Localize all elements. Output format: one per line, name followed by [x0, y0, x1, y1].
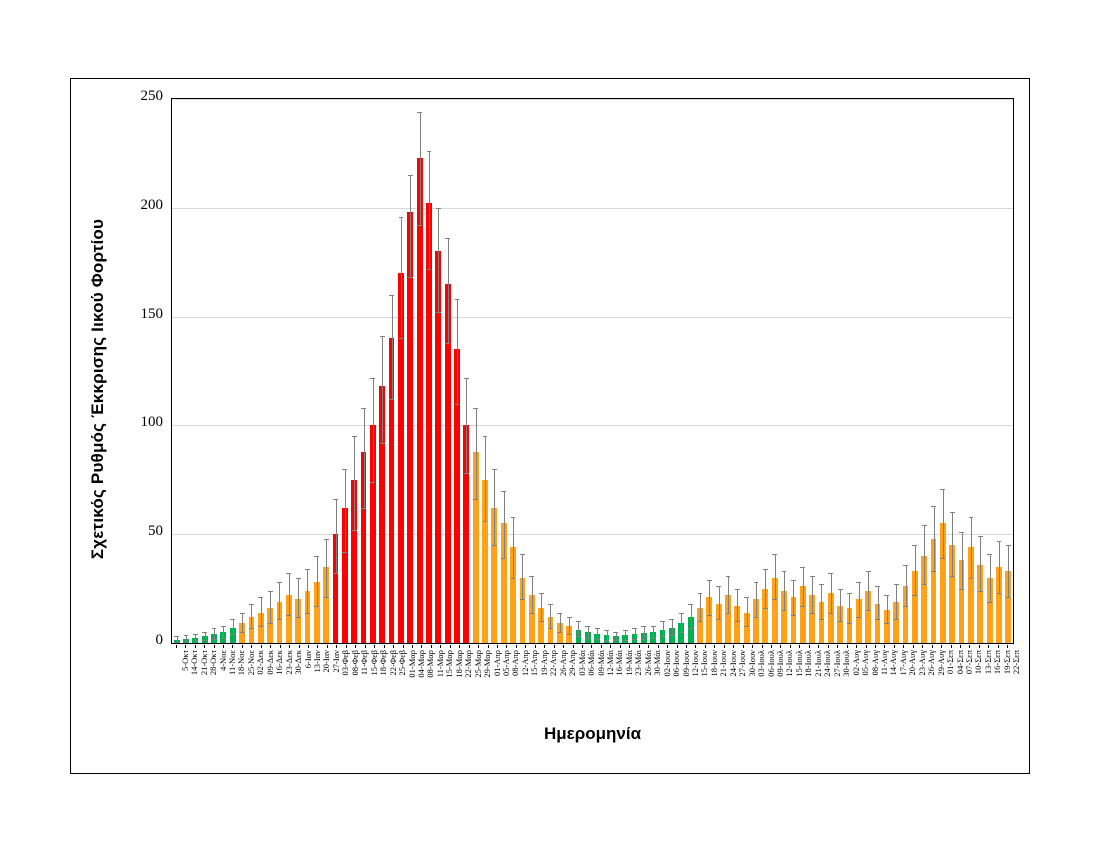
x-tick-mark [421, 645, 422, 648]
x-tick-mark [610, 645, 611, 648]
error-bar-cap [483, 521, 488, 522]
error-bar-cap [221, 638, 226, 639]
x-tick-mark [847, 645, 848, 648]
error-bar [429, 151, 430, 269]
error-bar-cap [268, 591, 273, 592]
x-tick-mark [289, 645, 290, 648]
x-tick-mark [601, 645, 602, 648]
error-bar-cap [782, 610, 787, 611]
error-bar-cap [193, 634, 198, 635]
error-bar-cap [828, 573, 833, 574]
error-bar-cap [847, 623, 852, 624]
error-bar-cap [623, 630, 628, 631]
x-axis-title: Ημερομηνία [171, 724, 1014, 744]
error-bar-cap [174, 642, 179, 643]
x-tick-mark [875, 645, 876, 648]
x-tick-label: 12-Ιουλ [784, 650, 794, 677]
error-bar-cap [342, 469, 347, 470]
error-bar-cap [772, 554, 777, 555]
error-bar [392, 295, 393, 399]
error-bar-cap [511, 517, 516, 518]
error-bar [522, 554, 523, 600]
error-bar-cap [529, 613, 534, 614]
error-bar-cap [613, 632, 618, 633]
x-tick-mark [941, 645, 942, 648]
error-bar [205, 632, 206, 640]
error-bar-cap [716, 586, 721, 587]
x-tick-mark [762, 645, 763, 648]
x-tick-mark [242, 645, 243, 648]
x-tick-mark [894, 645, 895, 648]
x-tick-mark [308, 645, 309, 648]
error-bar [728, 576, 729, 613]
x-tick-mark [393, 645, 394, 648]
x-tick-label: 27-Ιουν [737, 650, 747, 676]
x-tick-label: 29-Μαρ [482, 650, 492, 678]
x-tick-mark [988, 645, 989, 648]
error-bar-cap [856, 617, 861, 618]
error-bar [298, 578, 299, 617]
x-tick-mark [658, 645, 659, 648]
error-bar-cap [268, 623, 273, 624]
x-tick-label: 16-Σεπ [992, 650, 1002, 674]
error-bar-cap [875, 586, 880, 587]
error-bar-cap [940, 558, 945, 559]
error-bar-cap [922, 584, 927, 585]
x-tick-mark [866, 645, 867, 648]
y-tick-label: 0 [119, 632, 163, 649]
x-tick-label: 08-Μαρ [425, 650, 435, 678]
error-bar-cap [436, 312, 441, 313]
error-bar-cap [791, 580, 796, 581]
x-tick-mark [620, 645, 621, 648]
x-tick-label: 08-Απρ [510, 650, 520, 676]
x-tick-label: 14-Οκτ [189, 650, 199, 675]
x-tick-label: 22-Απρ [548, 650, 558, 676]
error-bar-cap [698, 621, 703, 622]
error-bar-cap [501, 491, 506, 492]
error-bar-cap [800, 567, 805, 568]
x-tick-mark [497, 645, 498, 648]
error-bar-cap [464, 473, 469, 474]
error-bar [354, 436, 355, 530]
error-bar-cap [1006, 597, 1011, 598]
error-bar-cap [193, 641, 198, 642]
error-bar-cap [679, 613, 684, 614]
error-bar [242, 613, 243, 633]
error-bar [607, 630, 608, 640]
error-bar-cap [370, 378, 375, 379]
error-bar-cap [763, 608, 768, 609]
error-bar-cap [959, 589, 964, 590]
error-bar [532, 576, 533, 613]
error-bar-cap [464, 378, 469, 379]
x-tick-mark [488, 645, 489, 648]
y-tick-label: 100 [119, 414, 163, 431]
error-bar [466, 378, 467, 474]
error-bar-cap [604, 630, 609, 631]
error-bar [420, 112, 421, 225]
error-bar-cap [726, 613, 731, 614]
error-bar-cap [445, 343, 450, 344]
error-bar-cap [408, 277, 413, 278]
error-bar-cap [1006, 545, 1011, 546]
error-bar [223, 626, 224, 638]
error-bar-cap [735, 589, 740, 590]
error-bar [868, 571, 869, 610]
x-tick-mark [185, 645, 186, 648]
error-bar-cap [866, 610, 871, 611]
error-bar [214, 628, 215, 639]
error-bar-cap [417, 225, 422, 226]
error-bar [457, 299, 458, 403]
error-bar [784, 571, 785, 610]
x-tick-mark [355, 645, 356, 648]
error-bar [887, 595, 888, 623]
y-tick-label: 200 [119, 197, 163, 214]
error-bar [812, 576, 813, 613]
x-tick-mark [232, 645, 233, 648]
error-bar-cap [333, 499, 338, 500]
error-bar [831, 573, 832, 612]
x-tick-mark [223, 645, 224, 648]
error-bar-cap [258, 597, 263, 598]
error-bar-cap [735, 621, 740, 622]
x-tick-mark [771, 645, 772, 648]
error-bar-cap [576, 636, 581, 637]
error-bar [681, 613, 682, 633]
error-bar-cap [249, 628, 254, 629]
error-bar-cap [539, 621, 544, 622]
x-tick-label: 11-Φεβ [359, 650, 369, 675]
error-bar-cap [333, 573, 338, 574]
x-tick-mark [251, 645, 252, 648]
error-bar-cap [585, 626, 590, 627]
error-bar-cap [828, 613, 833, 614]
error-bar [896, 584, 897, 619]
error-bar [504, 491, 505, 558]
x-tick-label: 05-Αυγ [860, 650, 870, 675]
error-bar [410, 175, 411, 277]
x-tick-mark [639, 645, 640, 648]
error-bar-cap [230, 619, 235, 620]
error-bar-cap [567, 617, 572, 618]
x-tick-label: 22-Μαρ [463, 650, 473, 678]
error-bar [878, 586, 879, 619]
x-tick-mark [724, 645, 725, 648]
error-bar-cap [707, 580, 712, 581]
error-bar [691, 604, 692, 628]
error-bar [719, 586, 720, 619]
error-bar-cap [959, 532, 964, 533]
x-tick-mark [327, 645, 328, 648]
error-bar-cap [754, 617, 759, 618]
x-tick-mark [261, 645, 262, 648]
error-bar-cap [296, 617, 301, 618]
error-bar-cap [305, 613, 310, 614]
x-tick-mark [648, 645, 649, 648]
x-tick-label: 01-Μαρ [407, 650, 417, 678]
error-bar [924, 525, 925, 584]
error-bar [494, 469, 495, 545]
error-bar-cap [978, 591, 983, 592]
error-bar-cap [866, 571, 871, 572]
error-bar-cap [688, 628, 693, 629]
error-bar-cap [230, 634, 235, 635]
x-tick-mark [998, 645, 999, 648]
x-tick-mark [516, 645, 517, 648]
x-tick-mark [469, 645, 470, 648]
error-bar-cap [660, 636, 665, 637]
error-bar-cap [810, 613, 815, 614]
x-tick-mark [714, 645, 715, 648]
error-bar [849, 593, 850, 623]
x-tick-label: 01-Σεπ [945, 650, 955, 674]
x-tick-mark [403, 645, 404, 648]
error-bar-cap [969, 517, 974, 518]
error-bar-cap [576, 621, 581, 622]
error-bar [317, 556, 318, 606]
error-bar [635, 628, 636, 639]
error-bar-cap [520, 599, 525, 600]
error-bar [373, 378, 374, 482]
error-bar-cap [427, 151, 432, 152]
error-bar-cap [249, 604, 254, 605]
error-bar-cap [548, 604, 553, 605]
x-tick-mark [922, 645, 923, 648]
error-bar [747, 597, 748, 625]
error-bar-cap [473, 499, 478, 500]
x-tick-mark [979, 645, 980, 648]
x-tick-mark [270, 645, 271, 648]
error-bar [336, 499, 337, 573]
error-bar-cap [894, 584, 899, 585]
x-tick-mark [591, 645, 592, 648]
x-tick-mark [913, 645, 914, 648]
x-tick-mark [969, 645, 970, 648]
error-bar-cap [305, 569, 310, 570]
error-bar-cap [286, 615, 291, 616]
y-tick-label: 250 [119, 88, 163, 105]
error-bar-cap [212, 628, 217, 629]
error-bar-cap [380, 336, 385, 337]
error-bar-cap [940, 489, 945, 490]
y-axis-title-text: Σχετικός Ρυθμός Έκκρισης Ιικού Φορτίου [88, 219, 108, 559]
error-bar [438, 208, 439, 312]
error-bar-cap [529, 576, 534, 577]
x-tick-mark [431, 645, 432, 648]
error-bar [672, 619, 673, 635]
x-tick-mark [374, 645, 375, 648]
error-bar-cap [277, 582, 282, 583]
error-bar-cap [455, 404, 460, 405]
x-tick-label: 28-Οκτ [208, 650, 218, 675]
gridline [172, 99, 1013, 100]
x-tick-label: 25-Φεβ [397, 650, 407, 675]
x-tick-label: 10-Σεπ [973, 650, 983, 674]
x-tick-mark [544, 645, 545, 648]
error-bar [793, 580, 794, 615]
error-bar [756, 582, 757, 617]
error-bar-cap [352, 436, 357, 437]
x-tick-label: 14-Αυγ [888, 650, 898, 675]
error-bar [279, 582, 280, 619]
error-bar-cap [445, 238, 450, 239]
x-tick-mark [932, 645, 933, 648]
error-bar-cap [604, 640, 609, 641]
error-bar-cap [903, 565, 908, 566]
error-bar [345, 469, 346, 552]
error-bar-cap [651, 638, 656, 639]
error-bar-cap [726, 576, 731, 577]
error-bar [560, 613, 561, 633]
x-tick-mark [780, 645, 781, 648]
error-bar-cap [520, 554, 525, 555]
error-bar [251, 604, 252, 628]
error-bar-cap [884, 623, 889, 624]
error-bar-cap [296, 578, 301, 579]
x-tick-label: 15-Μαρ [444, 650, 454, 678]
x-tick-label: 30-Μάι [652, 650, 662, 676]
error-bar-cap [417, 112, 422, 113]
error-bar-cap [184, 641, 189, 642]
x-tick-label: 24-Ιουλ [822, 650, 832, 677]
x-tick-mark [440, 645, 441, 648]
x-tick-mark [837, 645, 838, 648]
error-bar-cap [698, 593, 703, 594]
error-bar [644, 626, 645, 639]
error-bar-cap [427, 269, 432, 270]
x-tick-mark [554, 645, 555, 648]
error-bar [906, 565, 907, 606]
x-tick-label: 20-Ιαν [321, 650, 331, 672]
x-tick-mark [752, 645, 753, 648]
error-bar-cap [184, 635, 189, 636]
error-bar-cap [258, 626, 263, 627]
error-bar [775, 554, 776, 600]
error-bar-cap [838, 621, 843, 622]
error-bar-cap [370, 482, 375, 483]
error-bar [962, 532, 963, 589]
error-bar-cap [978, 536, 983, 537]
error-bar-cap [632, 639, 637, 640]
error-bar-cap [707, 615, 712, 616]
x-tick-mark [525, 645, 526, 648]
x-tick-label: 18-Νοε [236, 650, 246, 675]
error-bar-cap [585, 638, 590, 639]
error-bar-cap [595, 628, 600, 629]
x-tick-mark [743, 645, 744, 648]
x-tick-mark [336, 645, 337, 648]
error-bar-cap [950, 576, 955, 577]
x-tick-label: 09-Μάι [596, 650, 606, 676]
x-tick-label: 18-Φεβ [378, 650, 388, 675]
error-bar [541, 593, 542, 621]
error-bar [1008, 545, 1009, 597]
error-bar [803, 567, 804, 606]
x-axis-ticks: 5-Οκτ14-Οκτ21-Οκτ28-Οκτ4-Νοε11-Νοε18-Νοε… [171, 645, 1014, 721]
error-bar-cap [361, 508, 366, 509]
error-bar-cap [969, 578, 974, 579]
error-bar [485, 436, 486, 521]
error-bar-cap [567, 634, 572, 635]
error-bar-cap [511, 578, 516, 579]
error-bar-cap [380, 443, 385, 444]
error-bar-cap [782, 571, 787, 572]
error-bar-cap [819, 619, 824, 620]
error-bar-cap [987, 554, 992, 555]
error-bar-cap [277, 619, 282, 620]
y-tick-label: 50 [119, 523, 163, 540]
error-bar-cap [389, 399, 394, 400]
error-bar [765, 569, 766, 608]
error-bar [915, 545, 916, 595]
x-tick-label: 22-Σεπ [1011, 650, 1021, 674]
x-tick-label: 30-Ιουλ [841, 650, 851, 677]
x-tick-mark [960, 645, 961, 648]
error-bar [569, 617, 570, 634]
error-bar [364, 408, 365, 508]
error-bar-cap [342, 552, 347, 553]
error-bar-cap [669, 619, 674, 620]
error-bar-cap [324, 539, 329, 540]
error-bar [476, 408, 477, 499]
error-bar-cap [473, 408, 478, 409]
error-bar-cap [669, 635, 674, 636]
x-tick-label: 15-Απρ [529, 650, 539, 676]
x-tick-mark [573, 645, 574, 648]
x-tick-label: 23-Μάι [633, 650, 643, 676]
error-bar [401, 217, 402, 339]
plot-area [171, 98, 1014, 644]
x-tick-mark [695, 645, 696, 648]
error-bar-cap [240, 613, 245, 614]
error-bar [980, 536, 981, 590]
error-bar [326, 539, 327, 598]
error-bar-cap [314, 606, 319, 607]
x-tick-mark [818, 645, 819, 648]
error-bar-cap [800, 606, 805, 607]
error-bar [289, 573, 290, 614]
error-bar [653, 626, 654, 638]
x-tick-mark [412, 645, 413, 648]
x-tick-mark [450, 645, 451, 648]
x-tick-mark [195, 645, 196, 648]
error-bar [952, 512, 953, 575]
x-tick-label: 03-Ιουλ [756, 650, 766, 677]
error-bar-cap [501, 558, 506, 559]
error-bar [270, 591, 271, 624]
error-bar-cap [903, 606, 908, 607]
x-tick-label: 06-Ιουν [671, 650, 681, 676]
x-tick-label: 20-Αυγ [907, 650, 917, 675]
error-bar-cap [240, 632, 245, 633]
error-bar-cap [922, 525, 927, 526]
error-bar-cap [810, 576, 815, 577]
x-tick-label: 03-Φεβ [340, 650, 350, 675]
x-tick-mark [629, 645, 630, 648]
error-bar [700, 593, 701, 621]
error-bar-cap [492, 545, 497, 546]
error-bar-cap [557, 632, 562, 633]
error-bar-cap [202, 640, 207, 641]
x-tick-mark [204, 645, 205, 648]
error-bar-cap [492, 469, 497, 470]
error-bar-cap [838, 589, 843, 590]
error-bar-cap [641, 639, 646, 640]
gridline [172, 317, 1013, 318]
x-tick-mark [903, 645, 904, 648]
